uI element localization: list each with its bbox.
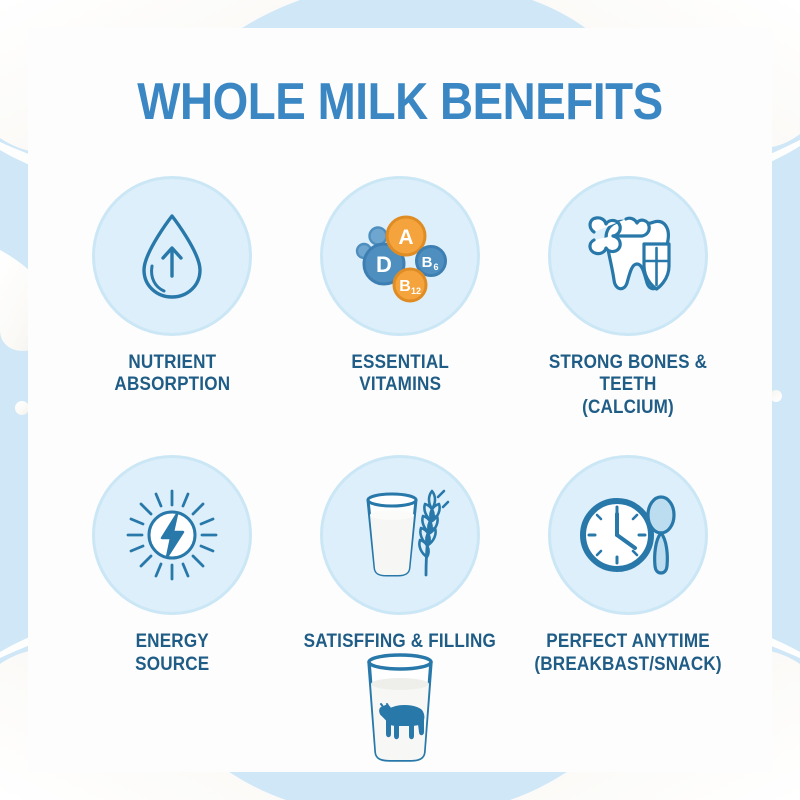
benefit-strong-bones-teeth[interactable]: STRONG BONES & TEETH (CALCIUM) bbox=[514, 176, 742, 419]
benefit-label: SATISFFING & FILLING bbox=[304, 631, 496, 653]
tooth-bone-shield-icon bbox=[576, 204, 680, 308]
icon-circle bbox=[548, 176, 708, 336]
water-drop-up-arrow-icon bbox=[122, 206, 222, 306]
vitamin-bubbles-icon: D A B 6 B 12 bbox=[348, 204, 452, 308]
vitamin-d-label: D bbox=[376, 252, 392, 277]
benefit-essential-vitamins[interactable]: D A B 6 B 12 ESSENTIAL VITAMINS bbox=[286, 176, 514, 419]
icon-circle bbox=[92, 176, 252, 336]
benefit-label: STRONG BONES & TEETH (CALCIUM) bbox=[525, 352, 730, 419]
milk-glass-cow-icon bbox=[357, 652, 443, 764]
page-title: WHOLE MILK BENEFITS bbox=[73, 72, 728, 132]
benefit-satisfying-filling[interactable]: SATISFFING & FILLING bbox=[286, 455, 514, 676]
poster: WHOLE MILK BENEFITS NUTRIENT ABSORPTION bbox=[0, 0, 800, 800]
vitamin-b12-subscript: 12 bbox=[411, 286, 421, 296]
milk-glass-wheat-icon bbox=[348, 483, 452, 587]
benefit-label: NUTRIENT ABSORPTION bbox=[114, 352, 230, 397]
vitamin-b6-subscript: 6 bbox=[433, 262, 438, 272]
vitamin-b12-label: B bbox=[399, 278, 411, 295]
icon-circle: D A B 6 B 12 bbox=[320, 176, 480, 336]
content-card: WHOLE MILK BENEFITS NUTRIENT ABSORPTION bbox=[28, 28, 772, 772]
benefit-nutrient-absorption[interactable]: NUTRIENT ABSORPTION bbox=[58, 176, 286, 419]
icon-circle bbox=[548, 455, 708, 615]
clock-spoon-icon bbox=[575, 482, 681, 588]
vitamin-b6-label: B bbox=[422, 254, 433, 271]
sun-lightning-bolt-icon bbox=[120, 483, 224, 587]
footer-logo bbox=[28, 652, 772, 764]
icon-circle bbox=[320, 455, 480, 615]
benefits-grid: NUTRIENT ABSORPTION D A bbox=[58, 176, 742, 676]
benefit-label: ESSENTIAL VITAMINS bbox=[351, 352, 449, 397]
icon-circle bbox=[92, 455, 252, 615]
benefit-perfect-anytime[interactable]: PERFECT ANYTIME (BREAKBAST/SNACK) bbox=[514, 455, 742, 676]
vitamin-a-label: A bbox=[398, 226, 413, 249]
benefit-energy-source[interactable]: ENERGY SOURCE bbox=[58, 455, 286, 676]
